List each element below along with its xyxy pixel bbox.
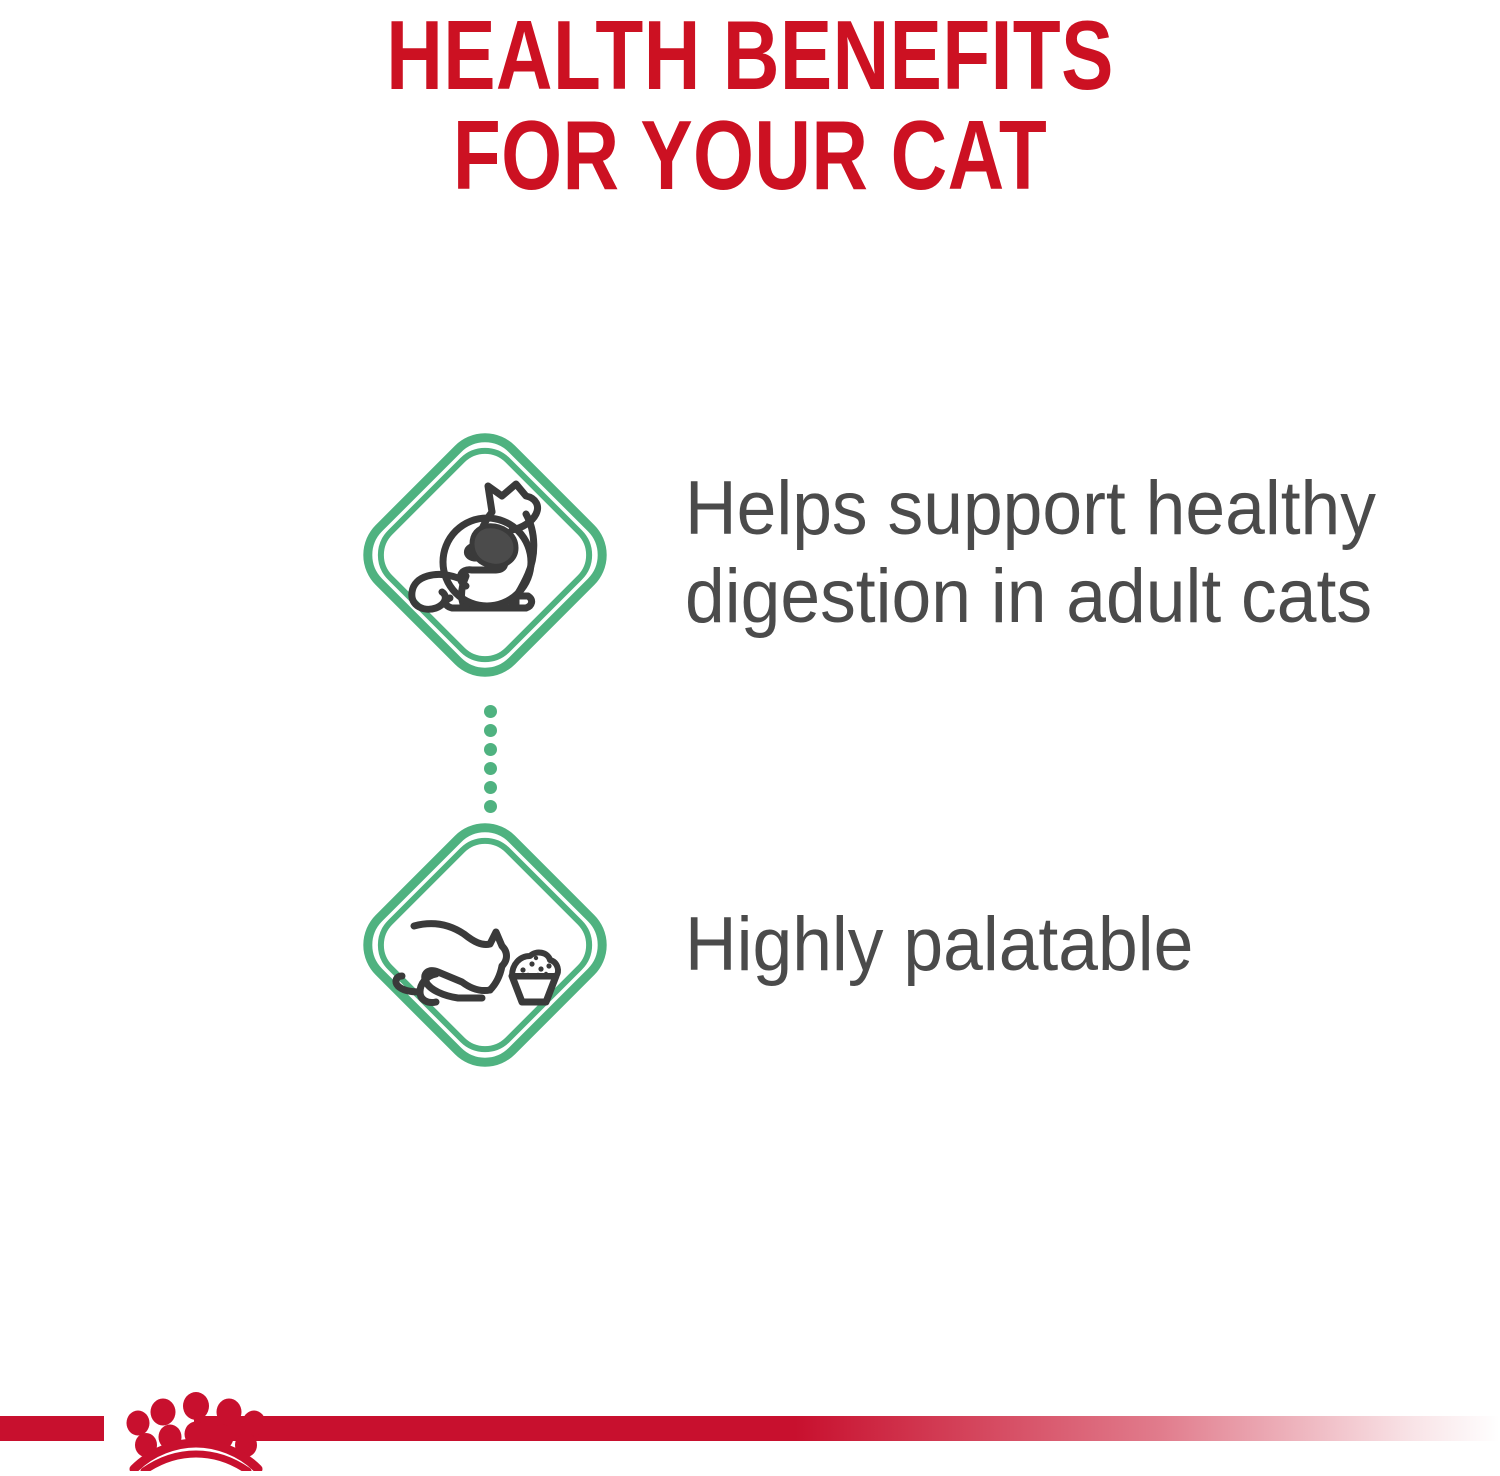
page-title-line-1: HEALTH BENEFITS bbox=[150, 0, 1350, 104]
brand-bar-left bbox=[0, 1416, 104, 1441]
cat-digestion-icon bbox=[340, 410, 630, 700]
connector-dot bbox=[484, 724, 497, 737]
benefit-label-digestion: Helps support healthy digestion in adult… bbox=[685, 465, 1451, 641]
royal-canin-crown-logo bbox=[108, 1380, 284, 1471]
connector-dot bbox=[484, 800, 497, 813]
page-title: HEALTH BENEFITS FOR YOUR CAT bbox=[0, 0, 1500, 204]
connector-dot bbox=[484, 781, 497, 794]
connector-dot bbox=[484, 705, 497, 718]
connector-dot bbox=[484, 743, 497, 756]
benefit-label-palatability: Highly palatable bbox=[685, 901, 1451, 989]
brand-footer bbox=[0, 1380, 1500, 1471]
connector-dot bbox=[484, 762, 497, 775]
brand-bar-right bbox=[194, 1416, 1500, 1441]
benefit-item-palatability: Highly palatable bbox=[0, 800, 1500, 1090]
cat-eating-bowl-icon bbox=[340, 800, 630, 1090]
page-title-line-2: FOR YOUR CAT bbox=[150, 104, 1350, 204]
benefit-item-digestion: Helps support healthy digestion in adult… bbox=[0, 410, 1500, 700]
dotted-connector bbox=[484, 705, 498, 805]
